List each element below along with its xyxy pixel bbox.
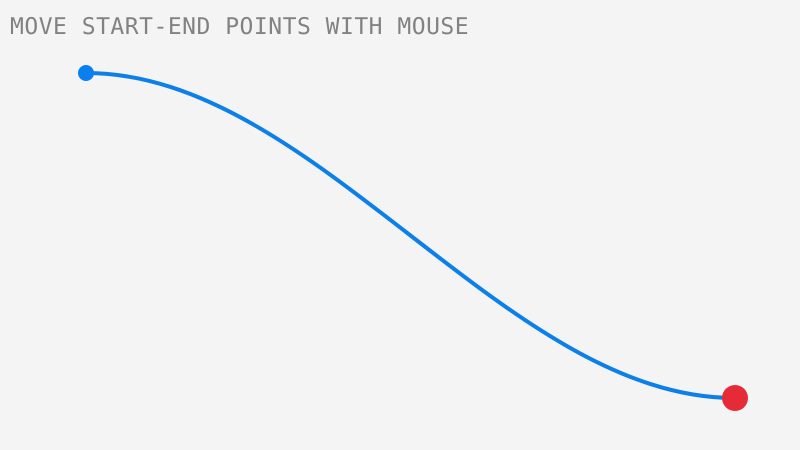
start-point-handle[interactable] <box>78 65 94 81</box>
drawing-canvas[interactable] <box>0 0 800 450</box>
end-point-handle[interactable] <box>722 385 748 411</box>
app-root: MOVE START-END POINTS WITH MOUSE <box>0 0 800 450</box>
page-title: MOVE START-END POINTS WITH MOUSE <box>10 14 469 40</box>
